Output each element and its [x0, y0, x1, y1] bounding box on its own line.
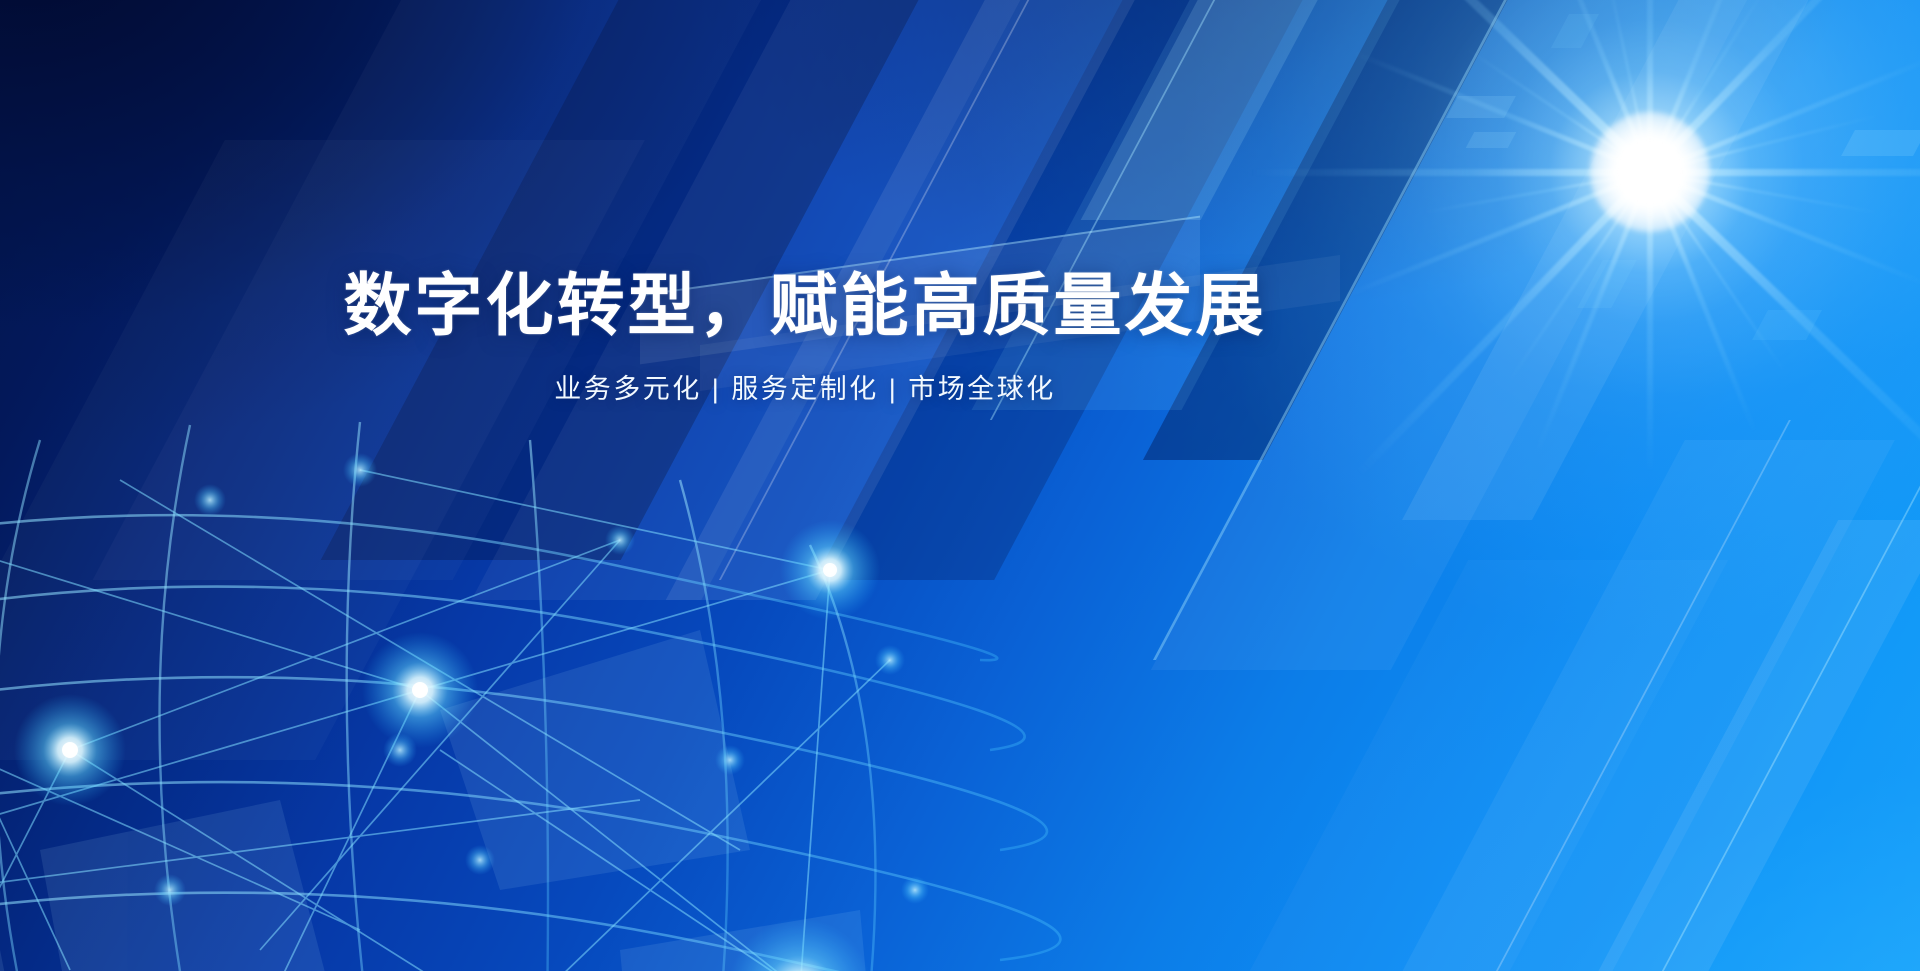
network-globe-graphic [0, 330, 920, 971]
page-title: 数字化转型，赋能高质量发展 [0, 272, 1610, 341]
banner-text-block: 数字化转型，赋能高质量发展 业务多元化 | 服务定制化 | 市场全球化 [0, 272, 1610, 406]
banner-canvas: 数字化转型，赋能高质量发展 业务多元化 | 服务定制化 | 市场全球化 [0, 0, 1920, 971]
page-subtitle: 业务多元化 | 服务定制化 | 市场全球化 [0, 367, 1610, 406]
burst-core-hot [1590, 112, 1710, 232]
